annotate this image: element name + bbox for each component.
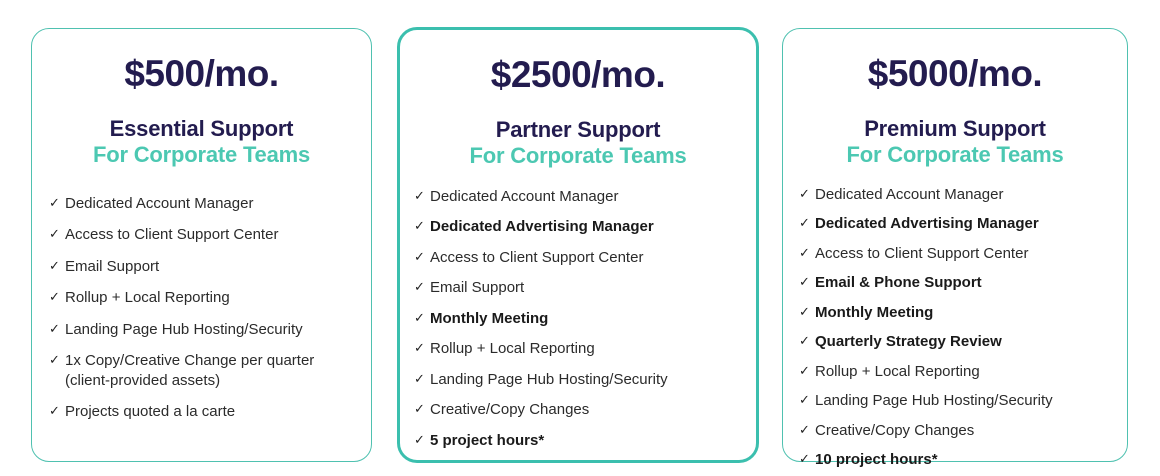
feature-item: ✓ Quarterly Strategy Review [799,332,1127,352]
plan-audience: For Corporate Teams [400,143,756,169]
feature-label: Access to Client Support Center [430,248,756,268]
feature-label: Access to Client Support Center [815,244,1127,264]
check-icon: ✓ [414,370,430,389]
check-icon: ✓ [414,278,430,297]
check-icon: ✓ [49,194,65,213]
plan-name: Essential Support [32,116,371,142]
pricing-plans-board: $500/mo. Essential Support For Corporate… [0,0,1160,476]
feature-label: 5 project hours* [430,431,756,451]
card-header: $500/mo. Essential Support For Corporate… [32,29,371,168]
plan-name: Partner Support [400,117,756,143]
check-icon: ✓ [799,214,815,233]
check-icon: ✓ [799,332,815,351]
plan-audience: For Corporate Teams [783,142,1127,168]
check-icon: ✓ [414,339,430,358]
check-icon: ✓ [414,248,430,267]
check-icon: ✓ [799,421,815,440]
feature-label: Rollup + Local Reporting [815,362,1127,382]
check-icon: ✓ [414,217,430,236]
feature-label: 1x Copy/Creative Change per quarter (cli… [65,351,371,390]
feature-label: Creative/Copy Changes [815,421,1127,441]
check-icon: ✓ [414,431,430,450]
feature-item: ✓ Monthly Meeting [414,309,756,329]
feature-label: Access to Client Support Center [65,225,371,245]
feature-label: Dedicated Account Manager [65,194,371,214]
feature-item: ✓ Landing Page Hub Hosting/Security [414,370,756,390]
feature-item: ✓ Dedicated Advertising Manager [414,217,756,237]
check-icon: ✓ [799,362,815,381]
feature-item: ✓ Dedicated Account Manager [799,185,1127,205]
feature-item: ✓ 10 project hours* [799,450,1127,470]
feature-label: Email & Phone Support [815,273,1127,293]
feature-item: ✓ Rollup + Local Reporting [49,288,371,308]
feature-label: Monthly Meeting [815,303,1127,323]
feature-label: Monthly Meeting [430,309,756,329]
check-icon: ✓ [799,273,815,292]
feature-label: Dedicated Advertising Manager [815,214,1127,234]
feature-label: Quarterly Strategy Review [815,332,1127,352]
feature-label: Creative/Copy Changes [430,400,756,420]
check-icon: ✓ [49,320,65,339]
feature-item: ✓ Landing Page Hub Hosting/Security [49,320,371,340]
feature-item: ✓ Rollup + Local Reporting [414,339,756,359]
feature-list: ✓ Dedicated Account Manager ✓ Dedicated … [400,169,756,451]
check-icon: ✓ [799,391,815,410]
feature-label: Email Support [65,257,371,277]
feature-item: ✓ Landing Page Hub Hosting/Security [799,391,1127,411]
feature-label: Landing Page Hub Hosting/Security [815,391,1127,411]
feature-label: Dedicated Account Manager [430,187,756,207]
feature-label: Email Support [430,278,756,298]
feature-list: ✓ Dedicated Account Manager ✓ Dedicated … [783,168,1127,470]
pricing-card-essential[interactable]: $500/mo. Essential Support For Corporate… [31,28,372,462]
check-icon: ✓ [799,185,815,204]
feature-label: Landing Page Hub Hosting/Security [430,370,756,390]
pricing-card-premium[interactable]: $5000/mo. Premium Support For Corporate … [782,28,1128,462]
feature-label: Projects quoted a la carte [65,402,371,422]
feature-item: ✓ Access to Client Support Center [49,225,371,245]
feature-item: ✓ Creative/Copy Changes [414,400,756,420]
plan-audience: For Corporate Teams [32,142,371,168]
feature-item: ✓ Dedicated Advertising Manager [799,214,1127,234]
feature-item: ✓ Access to Client Support Center [414,248,756,268]
check-icon: ✓ [414,187,430,206]
feature-item: ✓ Access to Client Support Center [799,244,1127,264]
feature-item: ✓ Rollup + Local Reporting [799,362,1127,382]
feature-item: ✓ Email Support [414,278,756,298]
check-icon: ✓ [414,309,430,328]
feature-item: ✓ 5 project hours* [414,431,756,451]
check-icon: ✓ [799,303,815,322]
feature-item: ✓ Email Support [49,257,371,277]
feature-item: ✓ Creative/Copy Changes [799,421,1127,441]
card-header: $2500/mo. Partner Support For Corporate … [400,30,756,169]
check-icon: ✓ [799,244,815,263]
feature-item: ✓ Email & Phone Support [799,273,1127,293]
plan-price: $500/mo. [32,55,371,94]
check-icon: ✓ [49,351,65,370]
feature-item: ✓ Monthly Meeting [799,303,1127,323]
plan-price: $2500/mo. [400,56,756,95]
pricing-card-partner[interactable]: $2500/mo. Partner Support For Corporate … [397,27,759,463]
feature-label: Dedicated Account Manager [815,185,1127,205]
feature-item: ✓ 1x Copy/Creative Change per quarter (c… [49,351,371,390]
feature-label: Rollup + Local Reporting [65,288,371,308]
card-header: $5000/mo. Premium Support For Corporate … [783,29,1127,168]
feature-label: Dedicated Advertising Manager [430,217,756,237]
check-icon: ✓ [414,400,430,419]
check-icon: ✓ [49,402,65,421]
check-icon: ✓ [49,225,65,244]
feature-label: Rollup + Local Reporting [430,339,756,359]
feature-label: 10 project hours* [815,450,1127,470]
check-icon: ✓ [49,257,65,276]
feature-item: ✓ Dedicated Account Manager [414,187,756,207]
feature-label: Landing Page Hub Hosting/Security [65,320,371,340]
check-icon: ✓ [799,450,815,469]
plan-price: $5000/mo. [783,55,1127,94]
plan-name: Premium Support [783,116,1127,142]
check-icon: ✓ [49,288,65,307]
feature-item: ✓ Dedicated Account Manager [49,194,371,214]
feature-list: ✓ Dedicated Account Manager ✓ Access to … [32,168,371,422]
feature-item: ✓ Projects quoted a la carte [49,402,371,422]
